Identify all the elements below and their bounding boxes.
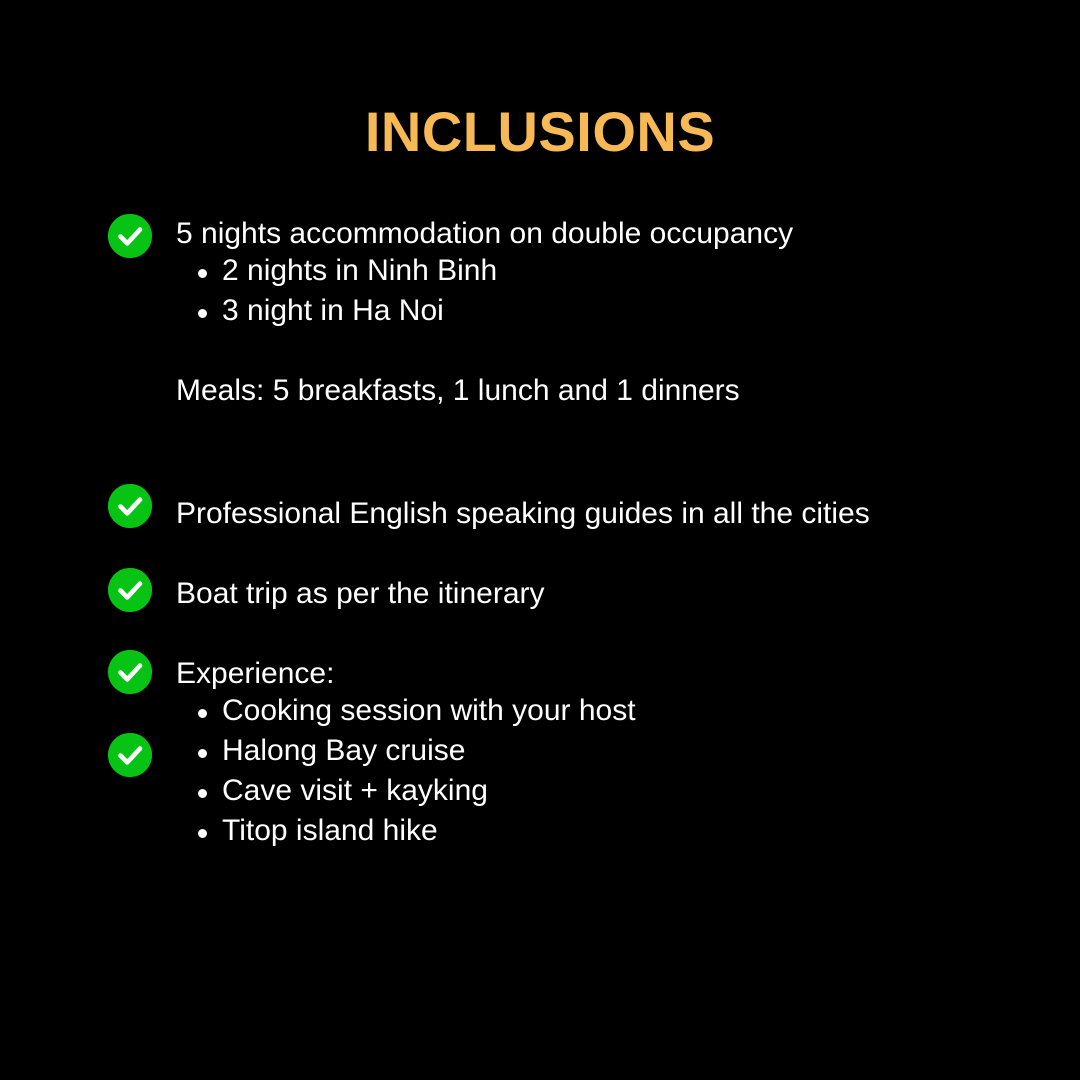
inclusions-slide: INCLUSIONS 5 nights accommodation on dou…	[0, 0, 1080, 1080]
inclusion-sublist-experience: Cooking session with your host Halong Ba…	[176, 691, 636, 851]
inclusion-note-meals: Meals: 5 breakfasts, 1 lunch and 1 dinne…	[176, 371, 740, 411]
inclusion-heading-experience: Experience:	[176, 654, 334, 694]
inclusion-sublist-accommodation: 2 nights in Ninh Binh 3 night in Ha Noi	[176, 251, 497, 331]
inclusion-heading-accommodation: 5 nights accommodation on double occupan…	[176, 214, 793, 254]
inclusion-heading-boat-trip: Boat trip as per the itinerary	[176, 574, 545, 614]
list-item: 3 night in Ha Noi	[176, 291, 497, 331]
page-title: INCLUSIONS	[0, 104, 1080, 160]
inclusion-heading-guides: Professional English speaking guides in …	[176, 494, 870, 534]
list-item: Titop island hike	[176, 811, 636, 851]
check-circle-icon	[108, 733, 152, 777]
check-circle-icon	[108, 568, 152, 612]
list-item: 2 nights in Ninh Binh	[176, 251, 497, 291]
list-item: Cave visit + kayking	[176, 771, 636, 811]
list-item: Halong Bay cruise	[176, 731, 636, 771]
check-circle-icon	[108, 650, 152, 694]
list-item: Cooking session with your host	[176, 691, 636, 731]
check-circle-icon	[108, 214, 152, 258]
check-circle-icon	[108, 484, 152, 528]
